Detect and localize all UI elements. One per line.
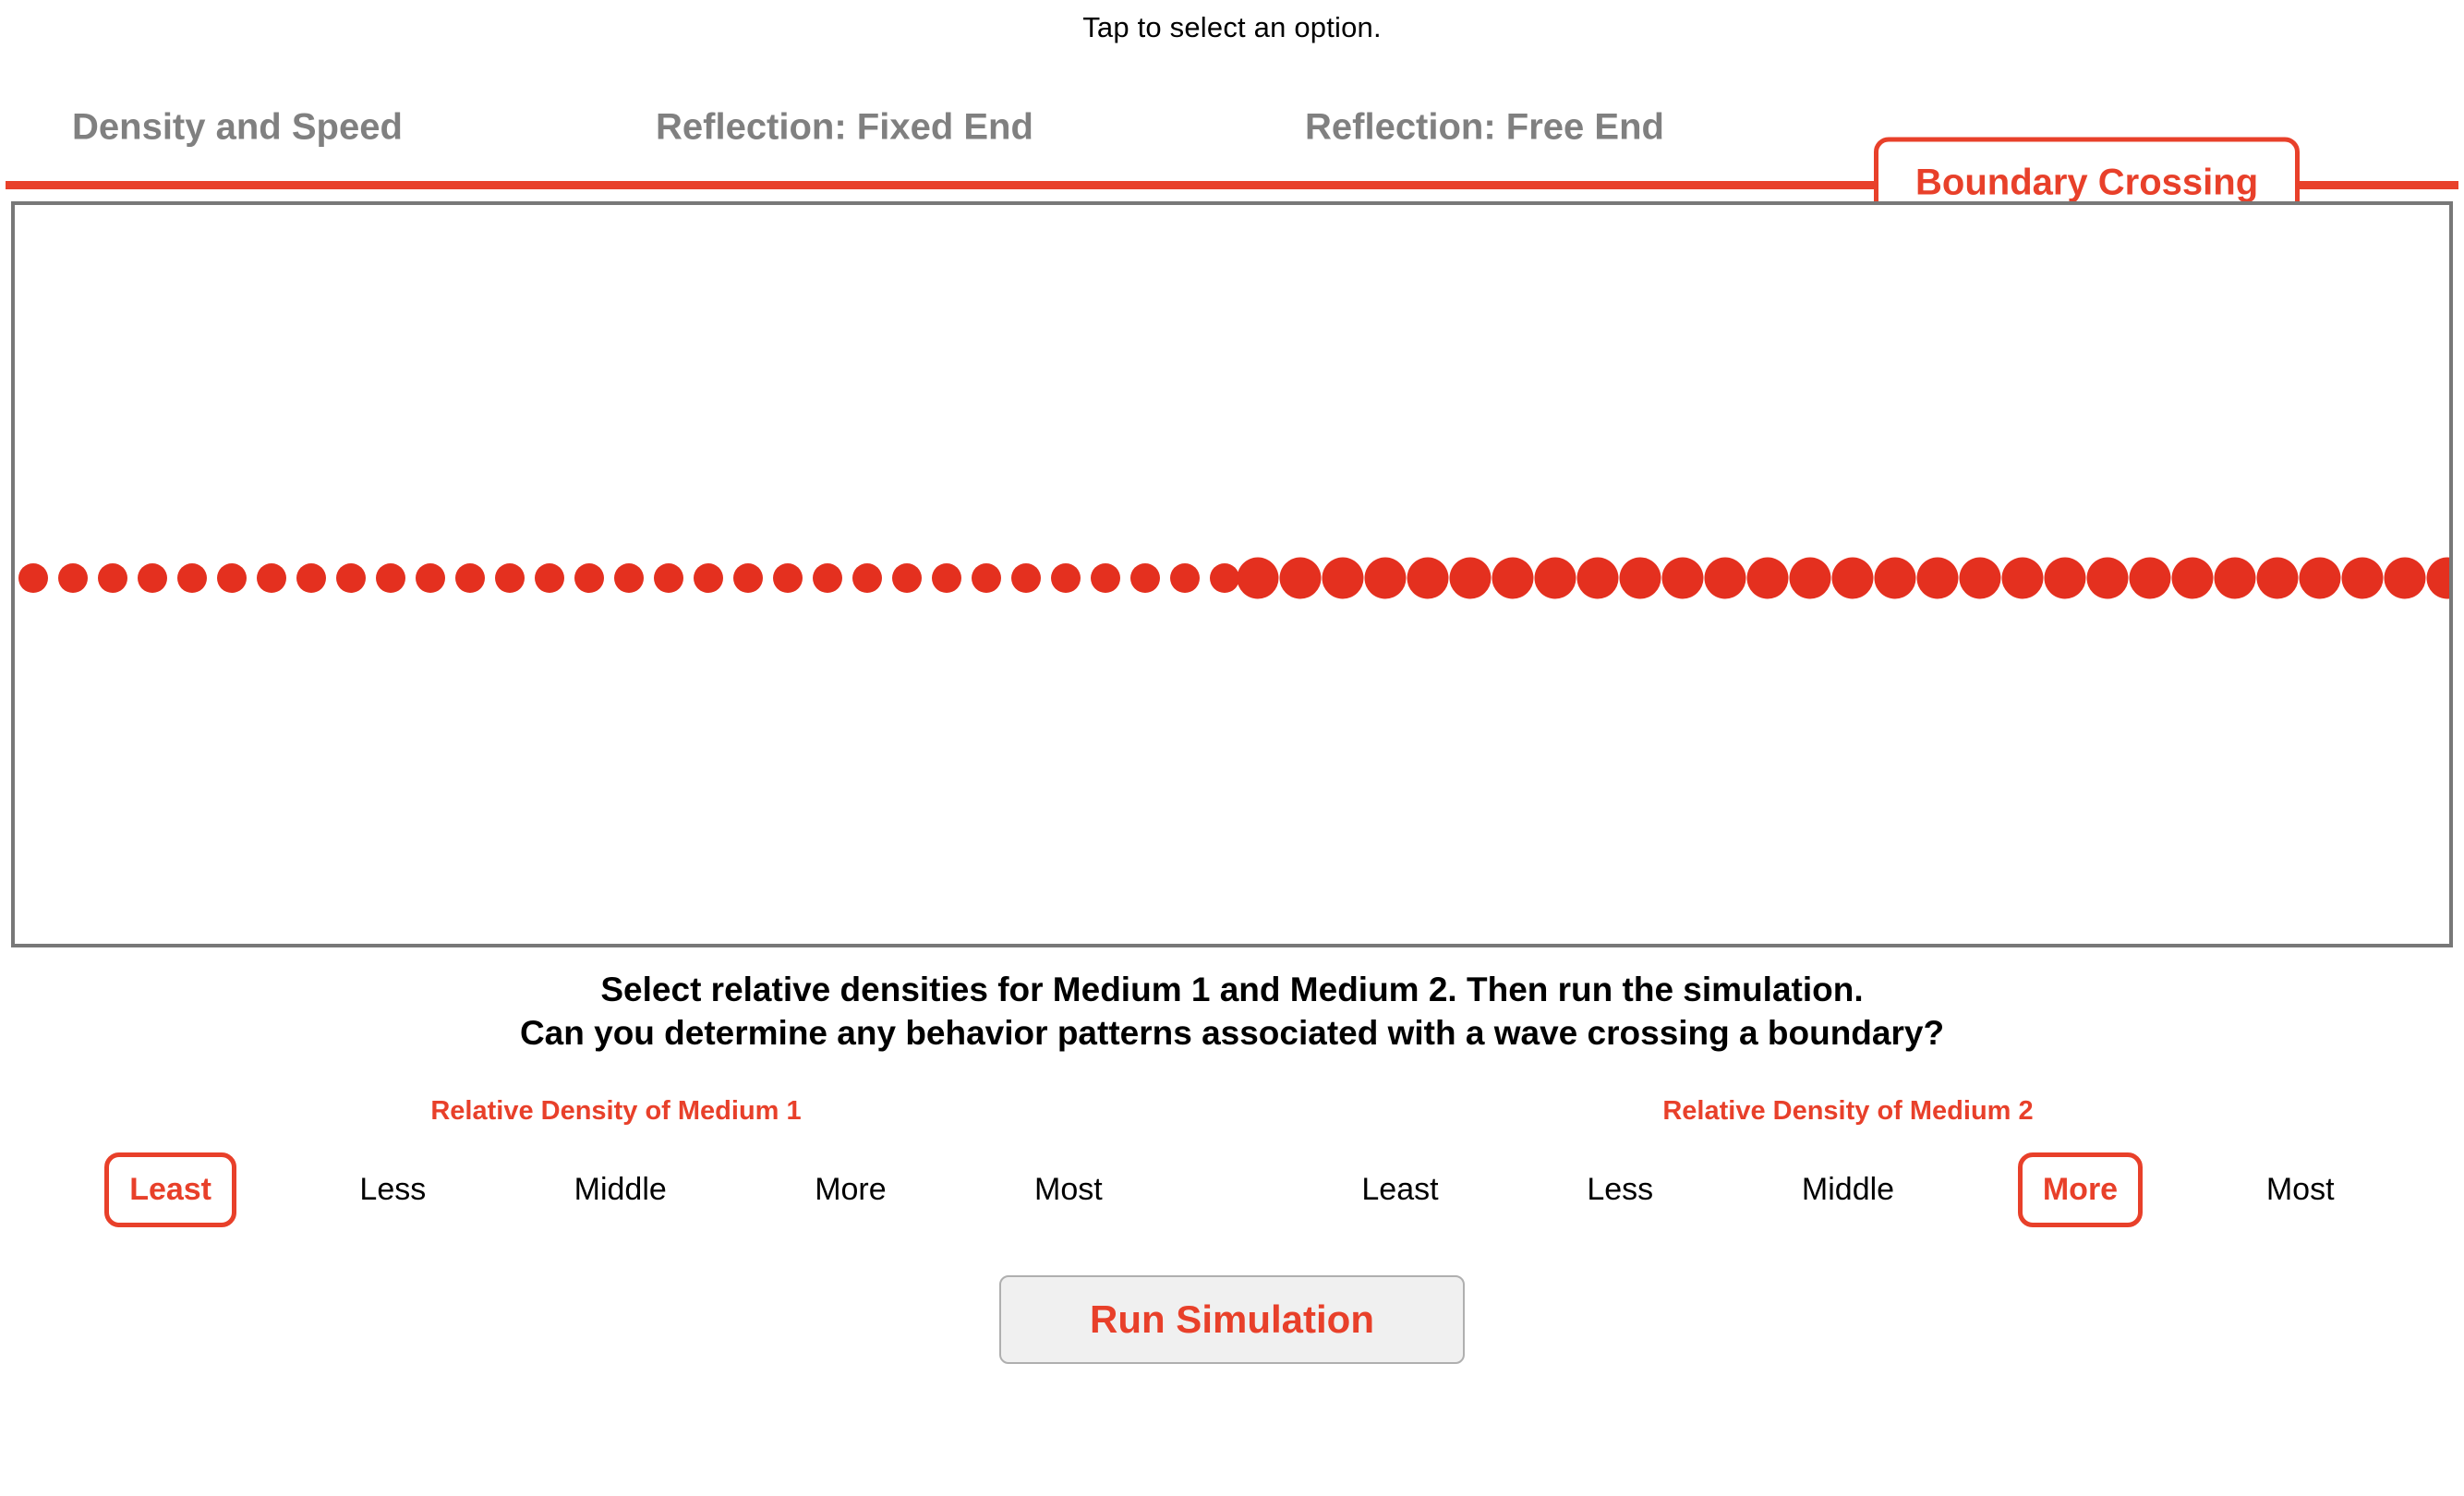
wave-particle — [1364, 558, 1406, 599]
hint-text: Tap to select an option. — [1082, 11, 1382, 43]
wave-particle — [852, 563, 882, 593]
wave-particle — [614, 563, 644, 593]
medium-2-option-least[interactable]: Least — [1336, 1152, 1463, 1227]
wave-particle — [177, 563, 207, 593]
tab-reflection-fixed-end[interactable]: Reflection: Fixed End — [656, 107, 1033, 149]
medium-2-title: Relative Density of Medium 2 — [1232, 1096, 2464, 1127]
wave-particle — [1534, 558, 1576, 599]
medium-1-title: Relative Density of Medium 1 — [0, 1096, 1232, 1127]
wave-particle — [2256, 558, 2298, 599]
wave-particle — [2214, 558, 2255, 599]
wave-particle — [1407, 558, 1448, 599]
medium-2-option-less[interactable]: Less — [1562, 1152, 1678, 1227]
wave-particle — [1011, 563, 1041, 593]
tab-reflection-free-end[interactable]: Reflection: Free End — [1305, 107, 1664, 149]
wave-particle — [1789, 558, 1830, 599]
wave-particle — [2129, 558, 2170, 599]
medium-1-options: Least Less Middle More Most — [0, 1152, 1232, 1227]
wave-particle — [1279, 558, 1321, 599]
wave-particle — [336, 563, 366, 593]
wave-particle — [1051, 563, 1081, 593]
medium-2-option-most[interactable]: Most — [2241, 1152, 2360, 1227]
wave-particle — [2086, 558, 2128, 599]
wave-particle — [972, 563, 1001, 593]
wave-particle — [296, 563, 326, 593]
wave-particle — [1746, 558, 1788, 599]
wave-particle — [2384, 558, 2425, 599]
wave-particle — [1091, 563, 1120, 593]
medium-2-option-more[interactable]: More — [2018, 1152, 2143, 1227]
medium-1-option-middle[interactable]: Middle — [550, 1152, 692, 1227]
wave-particle — [1874, 558, 1915, 599]
wave-particle — [2044, 558, 2085, 599]
wave-particle — [2341, 558, 2383, 599]
wave-particle — [257, 563, 286, 593]
hint-bar: Tap to select an option. — [0, 0, 2464, 44]
wave-particle — [376, 563, 405, 593]
wave-particle — [932, 563, 961, 593]
prompt-line-2: Can you determine any behavior patterns … — [0, 1011, 2464, 1055]
wave-particle — [416, 563, 445, 593]
medium-2-control-group: Relative Density of Medium 2 Least Less … — [1232, 1096, 2464, 1227]
wave-particle — [1661, 558, 1703, 599]
wave-particle — [694, 563, 723, 593]
wave-particle — [1831, 558, 1873, 599]
wave-particle — [892, 563, 922, 593]
wave-particle — [1237, 558, 1278, 599]
prompt-text: Select relative densities for Medium 1 a… — [0, 968, 2464, 1056]
simulation-canvas[interactable] — [11, 201, 2453, 947]
wave-particle — [1704, 558, 1745, 599]
wave-particle — [2299, 558, 2340, 599]
medium-1-option-more[interactable]: More — [790, 1152, 911, 1227]
wave-particle — [733, 563, 763, 593]
wave-particle — [1130, 563, 1160, 593]
wave-particle — [1576, 558, 1618, 599]
wave-particle — [813, 563, 842, 593]
wave-particle — [535, 563, 564, 593]
wave-particle — [773, 563, 803, 593]
wave-particle — [1959, 558, 2000, 599]
wave-particle — [58, 563, 88, 593]
medium-2-options: Least Less Middle More Most — [1232, 1152, 2464, 1227]
wave-particle — [654, 563, 683, 593]
wave-particle — [1322, 558, 1363, 599]
wave-particle — [574, 563, 604, 593]
wave-particle — [2171, 558, 2213, 599]
density-controls: Relative Density of Medium 1 Least Less … — [0, 1096, 2464, 1227]
wave-particle — [2001, 558, 2043, 599]
wave-particle — [2426, 558, 2453, 599]
wave-particle — [1210, 563, 1239, 593]
wave-particle — [455, 563, 485, 593]
medium-1-option-less[interactable]: Less — [334, 1152, 451, 1227]
medium-1-control-group: Relative Density of Medium 1 Least Less … — [0, 1096, 1232, 1227]
wave-particle — [495, 563, 525, 593]
wave-particle — [18, 563, 48, 593]
wave-particle — [1619, 558, 1661, 599]
medium-2-option-middle[interactable]: Middle — [1777, 1152, 1919, 1227]
wave-particle — [217, 563, 247, 593]
prompt-line-1: Select relative densities for Medium 1 a… — [0, 968, 2464, 1011]
medium-1-option-most[interactable]: Most — [1009, 1152, 1128, 1227]
wave-particle — [1170, 563, 1200, 593]
wave-particle — [1492, 558, 1533, 599]
tab-density-and-speed[interactable]: Density and Speed — [72, 107, 403, 149]
tab-bar: Density and Speed Reflection: Fixed End … — [0, 44, 2464, 181]
wave-particle — [1449, 558, 1491, 599]
wave-particle — [98, 563, 127, 593]
run-button-row: Run Simulation — [0, 1275, 2464, 1364]
medium-1-option-least[interactable]: Least — [104, 1152, 236, 1227]
run-simulation-button[interactable]: Run Simulation — [999, 1275, 1465, 1364]
wave-particle — [138, 563, 167, 593]
wave-particle — [1916, 558, 1958, 599]
